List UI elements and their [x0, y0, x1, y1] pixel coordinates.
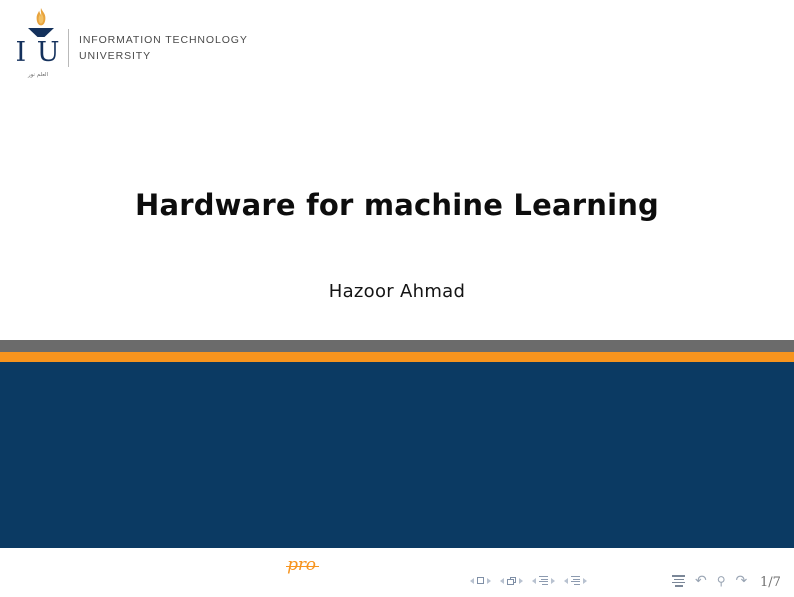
document-nav-group[interactable]: ↶ ⚲ ↷	[672, 574, 747, 588]
logo-divider	[68, 29, 69, 67]
orange-band	[0, 352, 794, 362]
back-arrow-icon[interactable]: ↶	[695, 574, 707, 588]
next-section-icon[interactable]	[583, 578, 587, 584]
page-indicator: 1/7	[760, 575, 781, 590]
slide-author: Hazoor Ahmad	[0, 281, 794, 302]
prev-subsection-icon[interactable]	[532, 578, 536, 584]
next-slide-icon[interactable]	[487, 578, 491, 584]
frame-nav-group[interactable]	[500, 577, 523, 585]
vispro-vis-text: VIS	[254, 555, 285, 575]
university-name: INFORMATION TECHNOLOGY UNIVERSITY	[79, 34, 248, 62]
search-icon[interactable]: ⚲	[717, 575, 726, 587]
prev-frame-icon[interactable]	[500, 578, 504, 584]
slide-title: Hardware for machine Learning	[0, 188, 794, 222]
prev-section-icon[interactable]	[564, 578, 568, 584]
itu-logo-mark: I U العلم نور	[14, 6, 62, 90]
university-logo: I U العلم نور INFORMATION TECHNOLOGY UNI…	[14, 6, 248, 90]
lab-name-text: Vision Processing Lab	[328, 556, 540, 574]
gray-band	[0, 340, 794, 352]
section-marker-icon[interactable]	[571, 576, 580, 585]
beamer-navigation-bar[interactable]	[470, 576, 596, 585]
subsection-nav-group[interactable]	[532, 576, 555, 585]
prev-slide-icon[interactable]	[470, 578, 474, 584]
university-name-line2: UNIVERSITY	[79, 50, 248, 62]
navy-band	[0, 362, 794, 548]
slide-marker-icon[interactable]	[477, 577, 484, 584]
itu-seal-text: العلم نور	[18, 72, 58, 78]
slide-nav-group[interactable]	[470, 577, 491, 584]
next-subsection-icon[interactable]	[551, 578, 555, 584]
presentation-slide: I U العلم نور INFORMATION TECHNOLOGY UNI…	[0, 0, 794, 597]
document-icon[interactable]	[672, 575, 685, 586]
university-name-line1: INFORMATION TECHNOLOGY	[79, 34, 248, 46]
vispro-pro-text: pro	[285, 555, 318, 575]
section-nav-group[interactable]	[564, 576, 587, 585]
torch-flame-icon	[34, 8, 48, 28]
frame-marker-icon[interactable]	[507, 577, 516, 585]
itu-letters: I U	[14, 36, 62, 70]
next-frame-icon[interactable]	[519, 578, 523, 584]
subsection-marker-icon[interactable]	[539, 576, 548, 585]
forward-arrow-icon[interactable]: ↷	[736, 574, 748, 588]
